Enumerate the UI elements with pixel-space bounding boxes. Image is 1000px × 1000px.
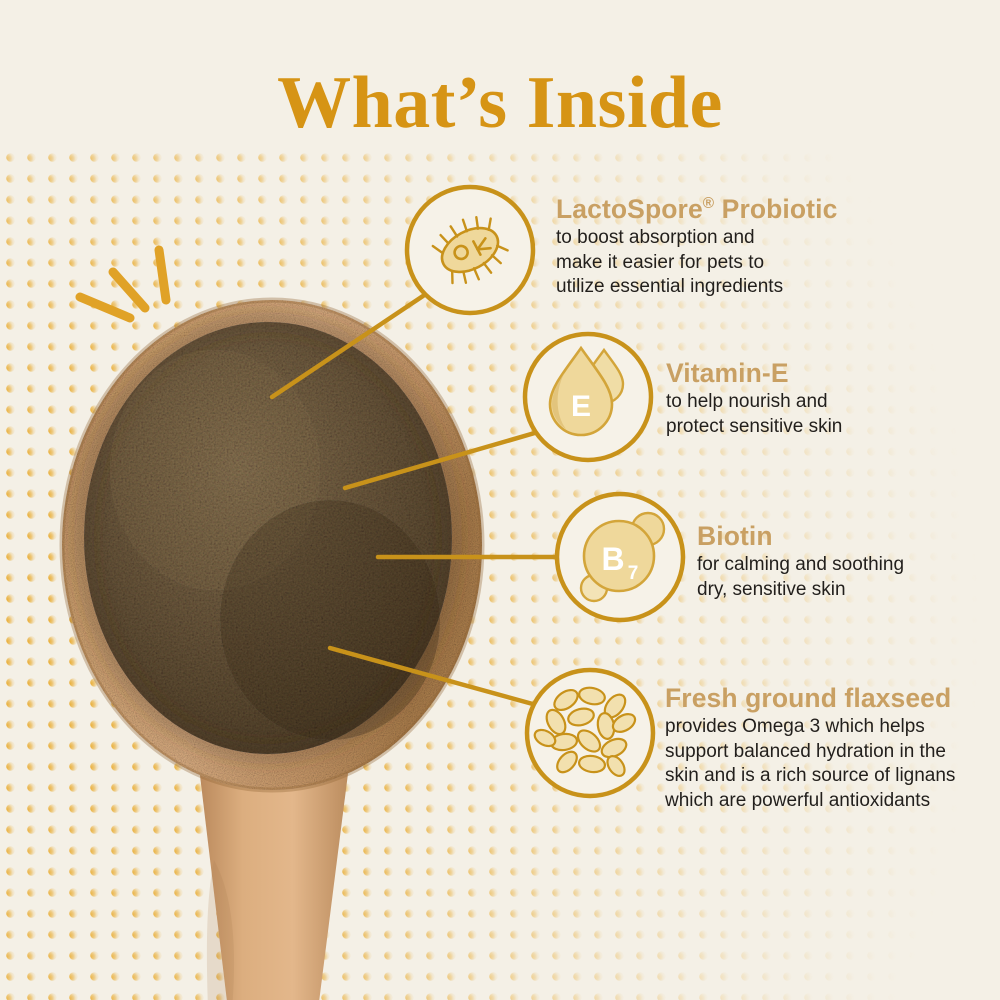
connector-line-vitamin-e <box>345 430 545 488</box>
body-line: to boost absorption and <box>556 226 837 251</box>
callout-heading-flaxseed: Fresh ground flaxseed <box>665 683 955 714</box>
icon-circle-lactospore[interactable] <box>407 187 533 313</box>
callout-biotin: Biotin for calming and soothing dry, sen… <box>697 521 904 602</box>
infographic-canvas: E B 7 <box>0 0 1000 1000</box>
callout-body-flaxseed: provides Omega 3 which helps support bal… <box>665 715 955 813</box>
body-line: which are powerful antioxidants <box>665 789 955 814</box>
callout-heading-biotin: Biotin <box>697 521 904 552</box>
body-line: skin and is a rich source of lignans <box>665 764 955 789</box>
callout-connectors-and-icons: E B 7 <box>0 0 1000 1000</box>
biotin-subscript: 7 <box>628 563 639 584</box>
connector-line-flaxseed <box>330 648 540 706</box>
callout-heading-vitamin-e: Vitamin-E <box>666 358 842 389</box>
connector-line-lactospore <box>272 296 423 397</box>
body-line: to help nourish and <box>666 390 842 415</box>
body-line: make it easier for pets to <box>556 251 837 276</box>
page-title: What’s Inside <box>0 66 1000 140</box>
callout-heading-lactospore: LactoSpore® Probiotic <box>556 194 837 225</box>
callout-lactospore: LactoSpore® Probiotic to boost absorptio… <box>556 194 837 300</box>
vitamin-e-letter: E <box>571 390 591 423</box>
callout-body-lactospore: to boost absorption and make it easier f… <box>556 226 837 300</box>
body-line: utilize essential ingredients <box>556 275 837 300</box>
icon-circle-flaxseed[interactable] <box>527 670 653 796</box>
body-line: provides Omega 3 which helps <box>665 715 955 740</box>
registered-mark: ® <box>703 195 714 212</box>
body-line: protect sensitive skin <box>666 415 842 440</box>
body-line: dry, sensitive skin <box>697 578 904 603</box>
body-line: for calming and soothing <box>697 553 904 578</box>
callout-body-vitamin-e: to help nourish and protect sensitive sk… <box>666 390 842 439</box>
callout-flaxseed: Fresh ground flaxseed provides Omega 3 w… <box>665 683 955 813</box>
biotin-letter: B <box>601 541 624 577</box>
callout-vitamin-e: Vitamin-E to help nourish and protect se… <box>666 358 842 439</box>
icon-circle-biotin[interactable]: B 7 <box>557 494 683 620</box>
icon-circle-vitamin-e[interactable]: E <box>525 334 651 460</box>
callout-body-biotin: for calming and soothing dry, sensitive … <box>697 553 904 602</box>
body-line: support balanced hydration in the <box>665 740 955 765</box>
